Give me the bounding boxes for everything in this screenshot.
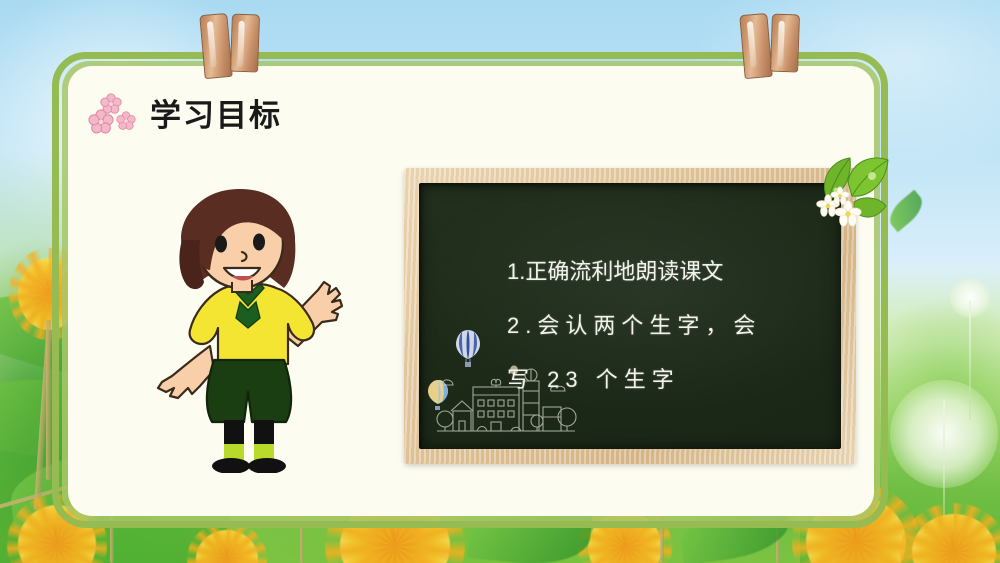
leaf-jasmine-decoration <box>806 152 902 238</box>
blossom-icon <box>88 109 114 135</box>
sunflower <box>912 514 996 563</box>
blackboard: 1.正确流利地朗读课文 2.会认两个生字，会 写 23 个生字 <box>404 168 856 464</box>
board-line-2: 2.会认两个生字，会 <box>419 315 841 337</box>
dandelion-stem <box>969 300 971 420</box>
clip-peg-icon <box>739 13 772 79</box>
flower-stem <box>46 320 51 480</box>
clip-peg-icon <box>199 13 232 79</box>
wooden-clip-left <box>200 14 264 80</box>
page-title: 学习目标 <box>150 100 282 131</box>
blossom-icon <box>116 111 136 131</box>
board-line-3: 写 23 个生字 <box>419 369 841 391</box>
blackboard-text: 1.正确流利地朗读课文 2.会认两个生字，会 写 23 个生字 <box>419 183 841 449</box>
clip-peg-icon <box>230 14 260 73</box>
blackboard-surface: 1.正确流利地朗读课文 2.会认两个生字，会 写 23 个生字 <box>419 183 841 449</box>
sunflower <box>196 530 258 563</box>
cherry-blossom-cluster <box>88 93 140 137</box>
page-title-row: 学习目标 <box>88 93 282 137</box>
waving-schoolgirl-illustration <box>148 178 363 473</box>
board-line-1: 1.正确流利地朗读课文 <box>419 261 841 283</box>
wooden-clip-right <box>740 14 804 80</box>
clip-peg-icon <box>770 14 800 73</box>
slide-canvas: 学习目标 <box>0 0 1000 563</box>
